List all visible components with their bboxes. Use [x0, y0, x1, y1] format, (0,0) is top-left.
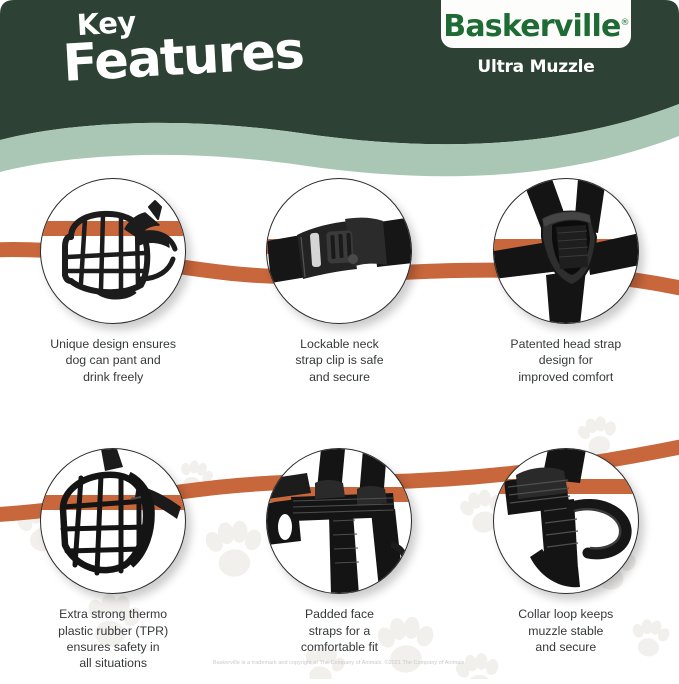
feature-image-circle	[266, 448, 412, 594]
collar-loop-icon	[494, 449, 639, 594]
feature-image-circle	[40, 448, 186, 594]
feature-caption: Lockable neck strap clip is safe and sec…	[239, 336, 439, 385]
feature-caption: Unique design ensures dog can pant and d…	[13, 336, 213, 385]
feature-image-circle	[493, 178, 639, 324]
title-line-features: Features	[62, 26, 305, 91]
head-strap-adjuster-icon	[494, 179, 639, 324]
feature-row-1: Unique design ensures dog can pant and d…	[0, 178, 679, 385]
feature-caption: Collar loop keeps muzzle stable and secu…	[466, 606, 666, 655]
product-name: Ultra Muzzle	[441, 57, 631, 77]
feature-caption: Patented head strap design for improved …	[466, 336, 666, 385]
feature-row-2: Extra strong thermo plastic rubber (TPR)…	[0, 448, 679, 672]
feature-item-lockable-clip[interactable]: Lockable neck strap clip is safe and sec…	[226, 178, 452, 385]
brand-logo-text: Baskerville®	[443, 12, 628, 42]
feature-image-circle	[266, 178, 412, 324]
brand-name: Baskerville	[443, 9, 620, 44]
basket-muzzle-front-icon	[41, 179, 186, 324]
feature-item-pant-and-drink[interactable]: Unique design ensures dog can pant and d…	[0, 178, 226, 385]
feature-caption: Padded face straps for a comfortable fit	[239, 606, 439, 655]
page-title: Key Features	[60, 0, 305, 91]
footer-legal: Baskerville is a trademark and copyright…	[0, 660, 679, 666]
brand-logo: Baskerville®	[441, 0, 631, 48]
side-release-buckle-icon	[267, 179, 412, 324]
feature-item-head-strap[interactable]: Patented head strap design for improved …	[453, 178, 679, 385]
feature-item-padded-straps[interactable]: Padded face straps for a comfortable fit	[226, 448, 452, 672]
header-banner: Key Features Baskerville® Ultra Muzzle	[0, 0, 679, 200]
registered-trademark-icon: ®	[621, 18, 629, 28]
feature-item-collar-loop[interactable]: Collar loop keeps muzzle stable and secu…	[453, 448, 679, 672]
feature-image-circle	[40, 178, 186, 324]
feature-grid: Unique design ensures dog can pant and d…	[0, 178, 679, 672]
feature-image-circle	[493, 448, 639, 594]
padded-face-straps-icon	[267, 449, 412, 594]
basket-muzzle-side-icon	[41, 449, 186, 594]
feature-item-tpr-material[interactable]: Extra strong thermo plastic rubber (TPR)…	[0, 448, 226, 672]
